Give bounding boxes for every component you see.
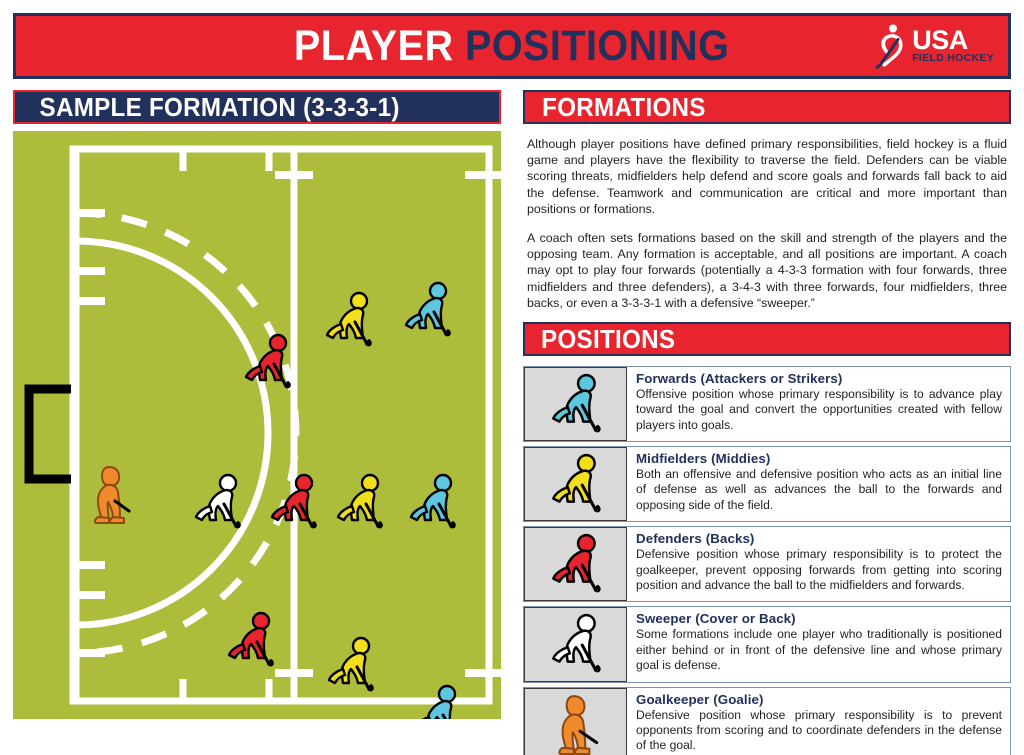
field-player-midfielder-bottom: [321, 633, 381, 699]
position-card-title: Defenders (Backs): [636, 531, 1002, 547]
position-card-description: Defensive position whose primary respons…: [636, 708, 1002, 754]
formations-text: Although player positions have defined p…: [527, 136, 1007, 311]
field-player-midfielder-mid: [330, 470, 390, 536]
field-player-sweeper: [188, 470, 248, 536]
position-card-body: Midfielders (Middies) Both an offensive …: [627, 447, 1010, 521]
position-card-title: Forwards (Attackers or Strikers): [636, 371, 1002, 387]
midfielder-player-icon: [524, 447, 627, 521]
positions-heading-label: POSITIONS: [541, 324, 675, 355]
usa-field-hockey-player-logo-icon: [874, 23, 908, 69]
position-card-description: Both an offensive and defensive position…: [636, 467, 1002, 513]
position-card-title: Midfielders (Middies): [636, 451, 1002, 467]
field-player-defender-mid: [264, 470, 324, 536]
page-title-part2: POSITIONING: [465, 22, 729, 70]
header-banner: PLAYER POSITIONING USA FIELD HOCKEY: [13, 13, 1011, 79]
formations-heading-label: FORMATIONS: [542, 92, 706, 123]
forward-player-icon: [524, 367, 627, 441]
logo-usa-text: USA: [912, 28, 994, 54]
formations-paragraph-2: A coach often sets formations based on t…: [527, 230, 1007, 311]
field-player-forward-bottom: [407, 681, 467, 719]
position-card-description: Offensive position whose primary respons…: [636, 387, 1002, 433]
position-card-description: Some formations include one player who t…: [636, 627, 1002, 673]
field-player-midfielder-top: [319, 288, 379, 354]
position-card-title: Goalkeeper (Goalie): [636, 692, 1002, 708]
position-card-goalkeeper: Goalkeeper (Goalie) Defensive position w…: [523, 687, 1011, 755]
defender-player-icon: [524, 527, 627, 601]
usa-field-hockey-logo: USA FIELD HOCKEY: [874, 23, 994, 69]
field-player-forward-top: [398, 278, 458, 344]
position-card-title: Sweeper (Cover or Back): [636, 611, 1002, 627]
position-card-body: Goalkeeper (Goalie) Defensive position w…: [627, 688, 1010, 755]
position-card-body: Sweeper (Cover or Back) Some formations …: [627, 607, 1010, 681]
positions-heading: POSITIONS: [523, 322, 1011, 356]
page-title: PLAYER POSITIONING: [294, 22, 729, 71]
field-player-defender-bottom: [221, 608, 281, 674]
infographic-page: PLAYER POSITIONING USA FIELD HOCKEY SAMP…: [0, 0, 1024, 755]
logo-field-hockey-text: FIELD HOCKEY: [912, 54, 994, 64]
field-player-defender-top: [238, 330, 298, 396]
position-card-body: Defenders (Backs) Defensive position who…: [627, 527, 1010, 601]
sample-formation-heading-label: SAMPLE FORMATION (3-3-3-1): [40, 92, 400, 123]
position-card-sweeper: Sweeper (Cover or Back) Some formations …: [523, 606, 1011, 682]
field-diagram: [13, 131, 501, 719]
page-title-part1: PLAYER: [294, 22, 454, 70]
formations-heading: FORMATIONS: [523, 90, 1011, 124]
field-player-forward-mid: [403, 470, 463, 536]
position-card-body: Forwards (Attackers or Strikers) Offensi…: [627, 367, 1010, 441]
position-card-midfielders: Midfielders (Middies) Both an offensive …: [523, 446, 1011, 522]
goalkeeper-player-icon: [524, 688, 627, 755]
position-card-forwards: Forwards (Attackers or Strikers) Offensi…: [523, 366, 1011, 442]
field-player-goalkeeper: [83, 461, 143, 527]
position-card-description: Defensive position whose primary respons…: [636, 547, 1002, 593]
positions-card-list: Forwards (Attackers or Strikers) Offensi…: [523, 366, 1011, 755]
sweeper-player-icon: [524, 607, 627, 681]
position-card-defenders: Defenders (Backs) Defensive position who…: [523, 526, 1011, 602]
sample-formation-heading: SAMPLE FORMATION (3-3-3-1): [13, 90, 501, 124]
formations-paragraph-1: Although player positions have defined p…: [527, 136, 1007, 217]
logo-wordmark: USA FIELD HOCKEY: [912, 28, 994, 64]
